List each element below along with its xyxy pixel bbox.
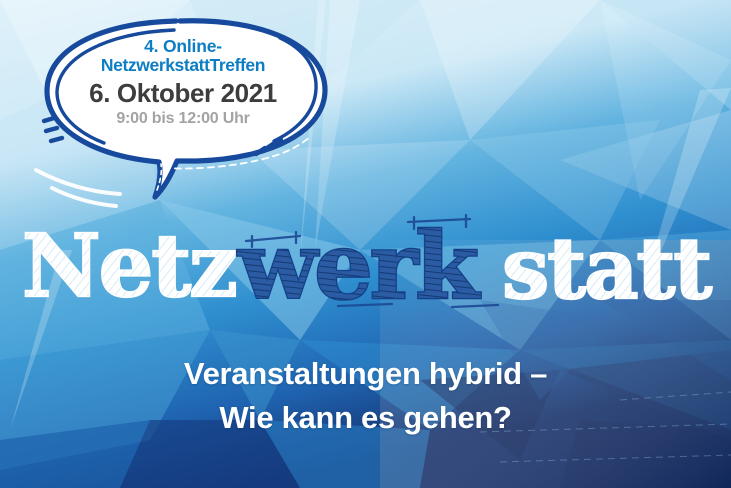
wordmark-part-werk: werk (237, 214, 481, 318)
subtitle-line1: Veranstaltungen hybrid – (0, 352, 731, 396)
event-poster: 4. Online- NetzwerkstattTreffen 6. Oktob… (0, 0, 731, 488)
event-date: 6. Oktober 2021 (28, 80, 338, 106)
wordmark-part-statt: statt (502, 219, 712, 318)
subtitle-line2: Wie kann es gehen? (0, 396, 731, 440)
event-time: 9:00 bis 12:00 Uhr (28, 111, 338, 127)
netzwerkstatt-wordmark: Netz werk statt (0, 214, 731, 318)
motion-lines-icon (36, 170, 120, 206)
speech-bubble: 4. Online- NetzwerkstattTreffen 6. Oktob… (28, 14, 338, 209)
bubble-text-block: 4. Online- NetzwerkstattTreffen 6. Oktob… (28, 38, 338, 127)
wordmark-svg: Netz werk statt (0, 214, 731, 318)
bubble-line2: NetzwerkstattTreffen (28, 57, 338, 75)
subtitle-block: Veranstaltungen hybrid – Wie kann es geh… (0, 352, 731, 440)
wordmark-part-netz: Netz (22, 216, 236, 317)
bubble-line1: 4. Online- (28, 38, 338, 56)
